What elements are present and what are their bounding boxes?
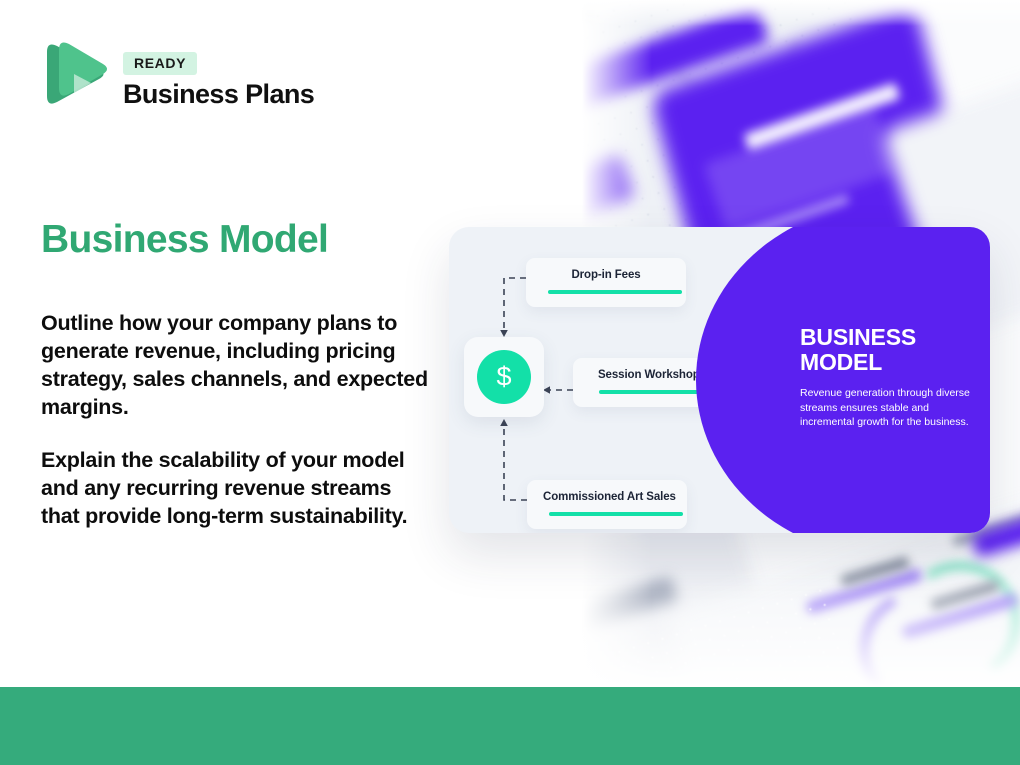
- dollar-sign-icon: $: [477, 350, 531, 404]
- panel-title-line-2: MODEL: [800, 350, 990, 375]
- body-paragraph-1: Outline how your company plans to genera…: [41, 309, 433, 422]
- brand-name: Business Plans: [123, 80, 314, 108]
- footer-bar: [0, 687, 1020, 765]
- panel-title-line-1: BUSINESS: [800, 325, 990, 350]
- bg-fade-top: [582, 0, 1020, 26]
- business-model-card: Drop-in Fees Session Workshops Commissio…: [449, 227, 990, 533]
- node-accent-bar: [549, 512, 683, 516]
- node-drop-in-fees[interactable]: Drop-in Fees: [526, 258, 686, 307]
- body-paragraph-2: Explain the scalability of your model an…: [41, 446, 433, 530]
- node-label: Drop-in Fees: [542, 269, 670, 281]
- bg-fade-bottom: [582, 567, 1020, 687]
- panel-description: Revenue generation through diverse strea…: [800, 386, 980, 431]
- node-commissioned-art-sales[interactable]: Commissioned Art Sales: [527, 480, 687, 529]
- page-title: Business Model: [41, 218, 328, 262]
- brand-wordmark: READY Business Plans: [123, 48, 314, 108]
- node-accent-bar: [548, 290, 682, 294]
- play-triangle-logo-icon: [41, 38, 107, 118]
- purple-panel-content: BUSINESS MODEL Revenue generation throug…: [800, 325, 990, 430]
- diagram-hub: $: [464, 337, 544, 417]
- node-label: Commissioned Art Sales: [543, 491, 671, 503]
- brand-logo-block: READY Business Plans: [41, 38, 314, 118]
- svg-text:$: $: [496, 362, 511, 392]
- ready-badge: READY: [123, 52, 197, 75]
